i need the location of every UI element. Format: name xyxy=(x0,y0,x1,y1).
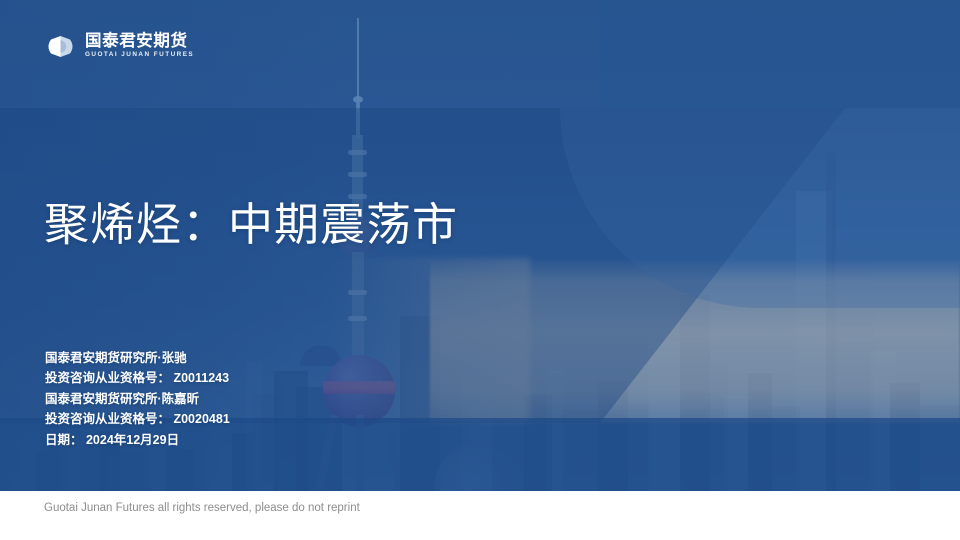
brand-name-cn: 国泰君安期货 xyxy=(85,33,194,50)
guotai-junan-hexagon-logo-icon xyxy=(45,35,76,58)
slide-title: 聚烯烃：中期震荡市 xyxy=(44,196,458,254)
credit-line-date: 日期： 2024年12月29日 xyxy=(45,430,230,450)
slide-footer: Guotai Junan Futures all rights reserved… xyxy=(0,491,960,540)
brand-logo-wordmark: 国泰君安期货 GUOTAI JUNAN FUTURES xyxy=(85,33,194,59)
analyst-credits: 国泰君安期货研究所·张驰 投资咨询从业资格号： Z0011243 国泰君安期货研… xyxy=(45,348,230,450)
copyright-notice: Guotai Junan Futures all rights reserved… xyxy=(44,500,360,516)
background-photo: 国泰君安期货 GUOTAI JUNAN FUTURES 聚烯烃：中期震荡市 国泰… xyxy=(0,0,960,491)
credit-line-license-1: 投资咨询从业资格号： Z0011243 xyxy=(45,368,230,388)
credit-line-license-2: 投资咨询从业资格号： Z0020481 xyxy=(45,409,230,429)
credit-line-analyst-2: 国泰君安期货研究所·陈嘉昕 xyxy=(45,389,230,409)
credit-line-analyst-1: 国泰君安期货研究所·张驰 xyxy=(45,348,230,368)
brand-name-en: GUOTAI JUNAN FUTURES xyxy=(85,51,194,59)
brand-logo: 国泰君安期货 GUOTAI JUNAN FUTURES xyxy=(45,33,194,59)
cover-slide: 国泰君安期货 GUOTAI JUNAN FUTURES 聚烯烃：中期震荡市 国泰… xyxy=(0,0,960,540)
overlay-top-right-block xyxy=(600,0,960,112)
